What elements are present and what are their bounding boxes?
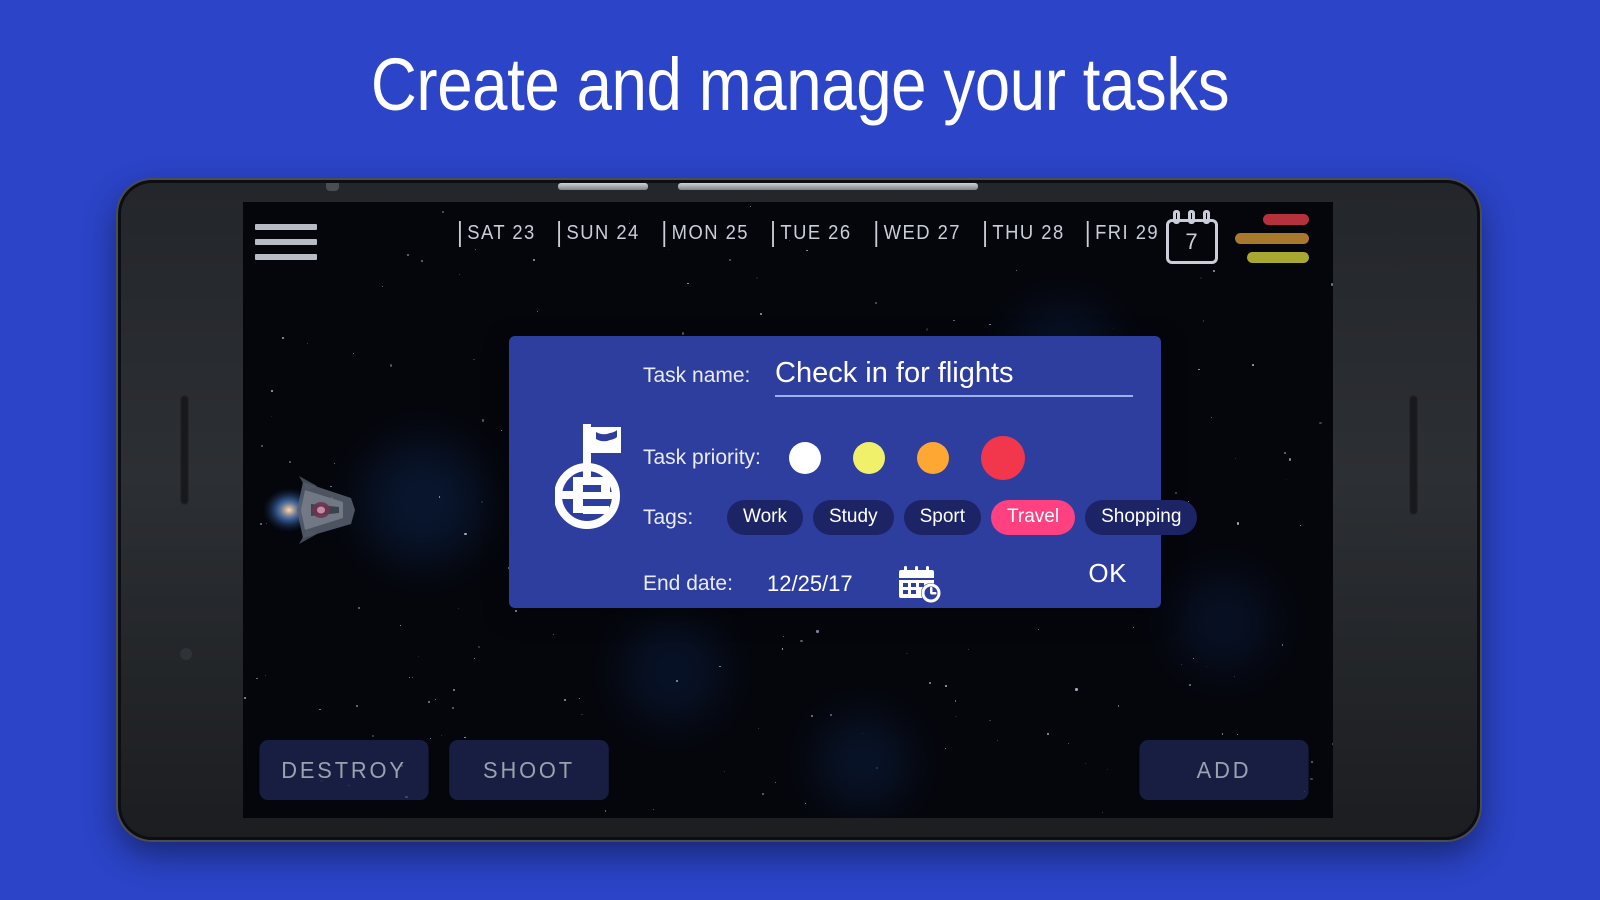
date-cell[interactable]: THU 28: [984, 222, 1079, 245]
calendar-clock-icon[interactable]: [899, 564, 943, 604]
spaceship-sprite: [259, 460, 363, 556]
hamburger-line: [255, 254, 317, 260]
tag-sport[interactable]: Sport: [904, 500, 981, 535]
page-title: Create and manage your tasks: [112, 48, 1488, 122]
legend-bar-yellow: [1247, 252, 1309, 263]
end-date-value[interactable]: 12/25/17: [767, 571, 853, 597]
priority-dot-high[interactable]: [981, 436, 1025, 480]
front-camera-icon: [326, 182, 339, 191]
date-cell[interactable]: SAT 23: [459, 222, 551, 245]
calendar-icon[interactable]: 7: [1166, 210, 1218, 264]
proximity-sensor: [558, 183, 648, 190]
date-cell[interactable]: FRI 29: [1087, 222, 1174, 245]
task-tags-row: Tags: Work Study Sport Travel Shopping: [643, 500, 1197, 535]
hamburger-line: [255, 224, 317, 230]
shoot-button[interactable]: SHOOT: [449, 740, 609, 800]
tag-travel[interactable]: Travel: [991, 500, 1075, 535]
phone-sensor-dot: [180, 648, 192, 660]
calendar-day-number: 7: [1166, 229, 1218, 255]
tag-study[interactable]: Study: [813, 500, 894, 535]
task-name-row: Task name: Check in for flights: [643, 358, 1133, 397]
task-priority-label: Task priority:: [643, 446, 775, 470]
add-button[interactable]: ADD: [1139, 740, 1308, 800]
priority-dot-none[interactable]: [789, 442, 821, 474]
ok-button[interactable]: OK: [1088, 558, 1127, 589]
destroy-button[interactable]: DESTROY: [259, 740, 428, 800]
app-top-bar: SAT 23 SUN 24 MON 25 TUE 26 WED 27 THU 2…: [243, 202, 1333, 272]
phone-mockup: SAT 23 SUN 24 MON 25 TUE 26 WED 27 THU 2…: [118, 180, 1480, 840]
legend-bar-red: [1263, 214, 1309, 225]
task-end-date-row: End date: 12/25/17: [643, 564, 943, 604]
phone-power-button: [1409, 395, 1418, 515]
priority-dot-medium[interactable]: [917, 442, 949, 474]
planet-flag-icon: [555, 420, 627, 530]
tag-list: Work Study Sport Travel Shopping: [727, 500, 1197, 535]
task-name-input[interactable]: Check in for flights: [775, 358, 1133, 397]
priority-dot-low[interactable]: [853, 442, 885, 474]
earpiece-speaker: [678, 183, 978, 190]
hamburger-menu-icon[interactable]: [255, 224, 317, 260]
phone-screen: SAT 23 SUN 24 MON 25 TUE 26 WED 27 THU 2…: [243, 202, 1333, 818]
legend-bar-orange: [1235, 233, 1309, 244]
phone-volume-button: [180, 395, 189, 505]
date-cell[interactable]: SUN 24: [559, 222, 655, 245]
date-cell[interactable]: TUE 26: [772, 222, 866, 245]
date-cell[interactable]: WED 27: [875, 222, 975, 245]
task-dialog: Task name: Check in for flights Task pri…: [509, 336, 1161, 608]
date-strip[interactable]: SAT 23 SUN 24 MON 25 TUE 26 WED 27 THU 2…: [455, 216, 1178, 250]
date-cell[interactable]: MON 25: [663, 222, 763, 245]
end-date-label: End date:: [643, 572, 753, 596]
priority-dot-group: [789, 436, 1025, 480]
tag-work[interactable]: Work: [727, 500, 803, 535]
task-priority-row: Task priority:: [643, 436, 1025, 480]
task-name-value: Check in for flights: [775, 358, 1133, 388]
task-tags-label: Tags:: [643, 506, 727, 530]
task-name-label: Task name:: [643, 364, 757, 388]
hamburger-line: [255, 239, 317, 245]
tag-shopping[interactable]: Shopping: [1085, 500, 1197, 535]
priority-legend-bars: [1235, 214, 1309, 271]
